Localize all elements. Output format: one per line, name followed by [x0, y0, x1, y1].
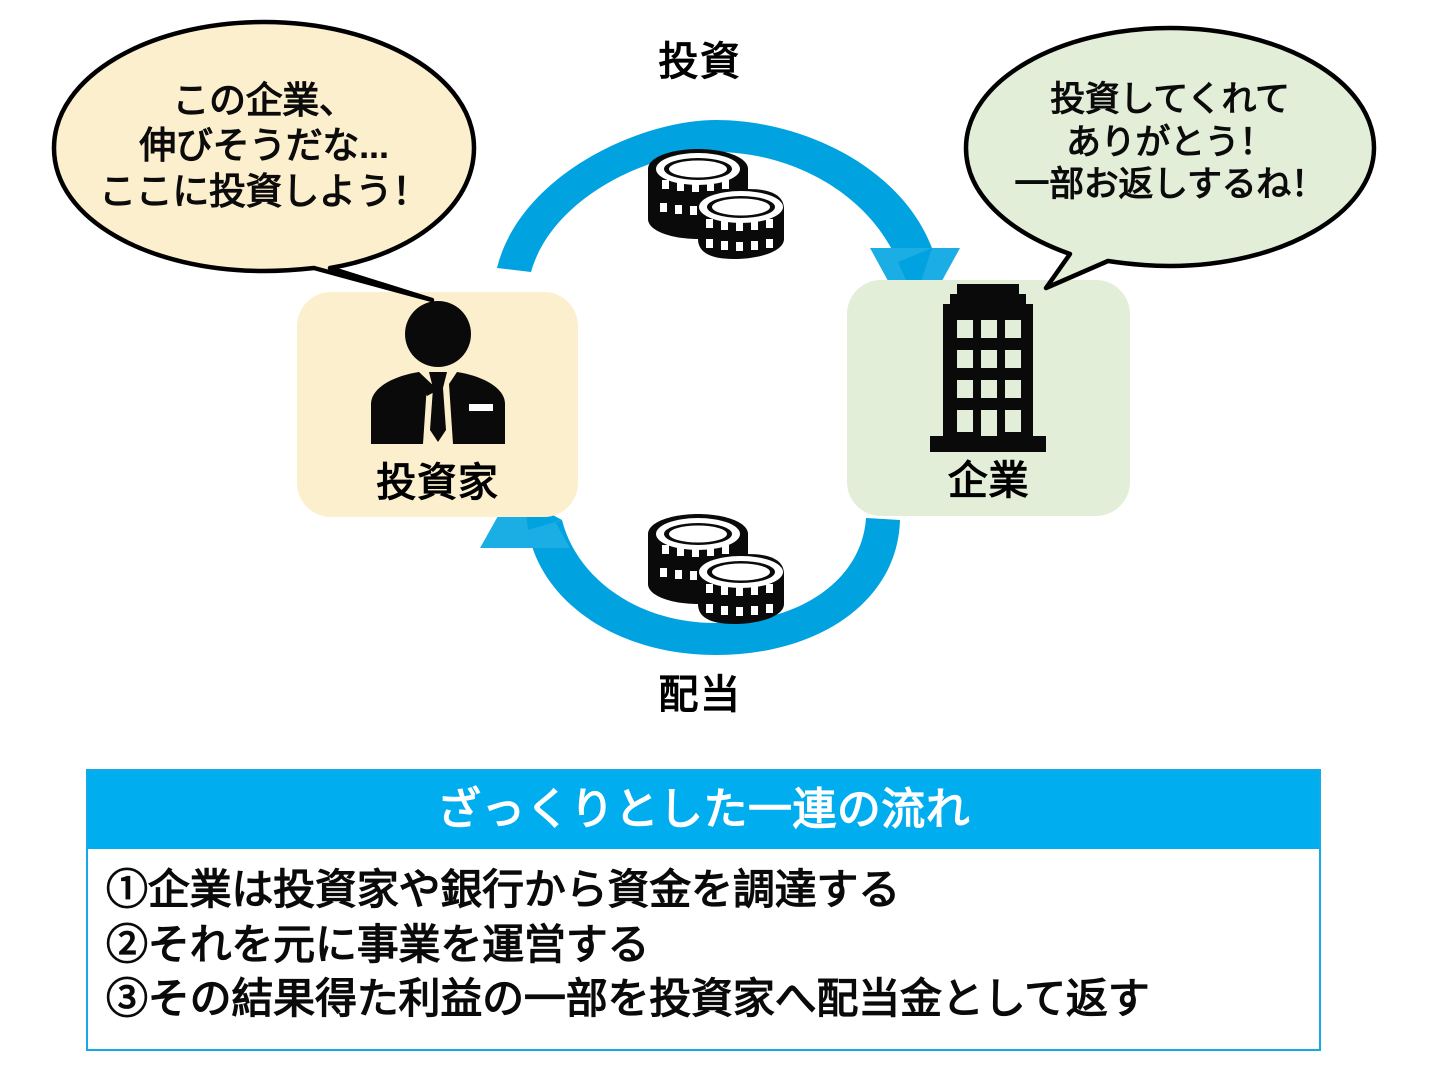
node-investor[interactable]: 投資家 [297, 292, 578, 517]
node-company-label: 企業 [948, 461, 1030, 501]
node-company[interactable]: 企業 [847, 280, 1130, 516]
businessman-icon [363, 292, 513, 457]
summary-steps-list: ①企業は投資家や銀行から資金を調達する ②それを元に事業を運営する ③その結果得… [88, 849, 1319, 1049]
summary-header: ざっくりとした一連の流れ [88, 771, 1319, 849]
flow-label-investment: 投資 [600, 42, 800, 82]
node-investor-label: 投資家 [376, 463, 498, 503]
speech-bubble-investor: この企業、 伸びそうだな... ここに投資しよう！ [24, 10, 504, 300]
flow-label-dividend: 配当 [600, 675, 800, 715]
slide-canvas: 投資 配当 [0, 0, 1440, 1087]
office-building-icon [924, 280, 1054, 457]
summary-panel: ざっくりとした一連の流れ ①企業は投資家や銀行から資金を調達する ②それを元に事… [86, 769, 1321, 1051]
list-item: ②それを元に事業を運営する [106, 918, 1319, 973]
speech-bubble-investor-text: この企業、 伸びそうだな... ここに投資しよう！ [99, 78, 429, 231]
coins-icon [640, 510, 790, 635]
coins-icon [640, 145, 790, 270]
speech-bubble-company-text: 投資してくれて ありがとう！ 一部お返しするね！ [1014, 79, 1325, 227]
summary-title: ざっくりとした一連の流れ [437, 788, 970, 832]
list-item: ①企業は投資家や銀行から資金を調達する [106, 863, 1319, 918]
list-item: ③その結果得た利益の一部を投資家へ配当金として返す [106, 972, 1319, 1027]
speech-bubble-company: 投資してくれて ありがとう！ 一部お返しするね！ [950, 18, 1390, 288]
